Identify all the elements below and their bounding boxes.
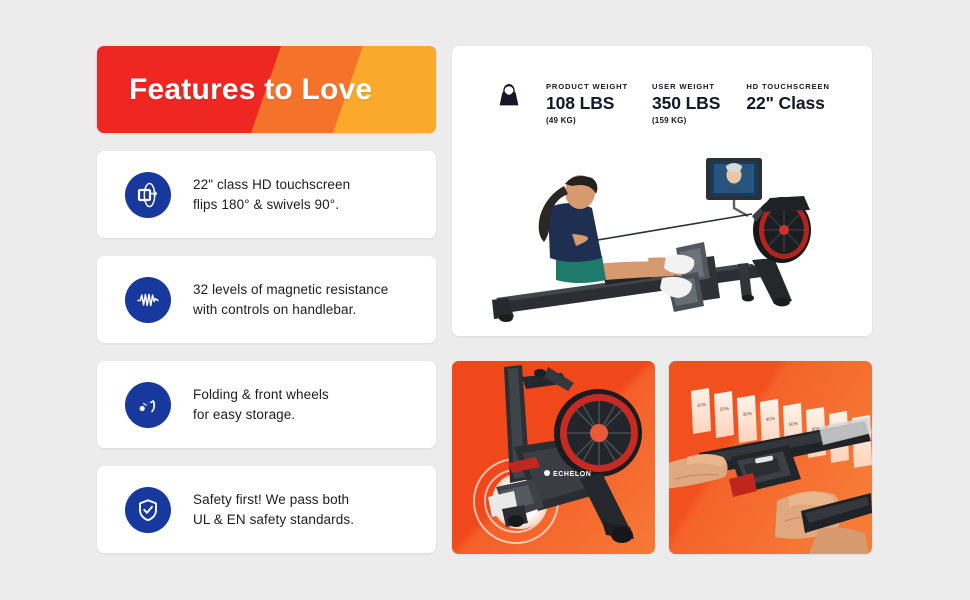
spec-label: HD TOUCHSCREEN <box>746 82 829 91</box>
specs-panel: PRODUCT WEIGHT 108 LBS (49 KG) USER WEIG… <box>452 46 872 336</box>
spec-value: 350 LBS <box>652 93 720 114</box>
feature-line-2: for easy storage. <box>193 405 329 425</box>
page-title: Features to Love <box>129 46 372 133</box>
feature-line-2: UL & EN safety standards. <box>193 510 354 530</box>
spec-hd-touchscreen: HD TOUCHSCREEN 22" Class <box>746 82 829 116</box>
feature-line-2: with controls on handlebar. <box>193 300 388 320</box>
feature-highlights-page: Features to Love 22" class HD touchscree… <box>0 0 970 600</box>
spec-product-weight: PRODUCT WEIGHT 108 LBS (49 KG) <box>546 82 628 125</box>
spec-value: 22" Class <box>746 93 829 114</box>
feature-text-touchscreen: 22" class HD touchscreen flips 180° & sw… <box>193 175 350 215</box>
feature-card-folding[interactable]: Folding & front wheels for easy storage. <box>97 361 436 448</box>
feature-text-folding: Folding & front wheels for easy storage. <box>193 385 329 425</box>
spec-sub-value: (49 KG) <box>546 116 628 125</box>
features-header-banner: Features to Love <box>97 46 436 133</box>
woman-rowing-on-machine-photo <box>452 138 872 336</box>
spec-value: 108 LBS <box>546 93 628 114</box>
weight-kettlebell-icon <box>494 78 524 115</box>
screen-rotate-icon <box>125 172 171 218</box>
folded-rower-photo: ECHELON <box>452 361 655 554</box>
feature-line-2: flips 180° & swivels 90°. <box>193 195 350 215</box>
feature-line-1: Folding & front wheels <box>193 387 329 402</box>
specs-row: PRODUCT WEIGHT 108 LBS (49 KG) USER WEIG… <box>452 68 872 130</box>
folding-wheels-icon <box>125 382 171 428</box>
magnetic-resistance-icon <box>125 277 171 323</box>
features-column: Features to Love 22" class HD touchscree… <box>97 46 436 553</box>
feature-text-safety: Safety first! We pass both UL & EN safet… <box>193 490 354 530</box>
feature-line-1: Safety first! We pass both <box>193 492 349 507</box>
feature-line-1: 22" class HD touchscreen <box>193 177 350 192</box>
feature-card-resistance[interactable]: 32 levels of magnetic resistance with co… <box>97 256 436 343</box>
shield-check-icon <box>125 487 171 533</box>
feature-card-safety[interactable]: Safety first! We pass both UL & EN safet… <box>97 466 436 553</box>
spec-label: PRODUCT WEIGHT <box>546 82 628 91</box>
spec-user-weight: USER WEIGHT 350 LBS (159 KG) <box>652 82 720 125</box>
svg-text:ECHELON: ECHELON <box>553 471 591 478</box>
handlebar-resistance-controls-photo: 10% 20% 30% 40% 50% <box>669 361 872 554</box>
feature-card-touchscreen[interactable]: 22" class HD touchscreen flips 180° & sw… <box>97 151 436 238</box>
feature-line-1: 32 levels of magnetic resistance <box>193 282 388 297</box>
spec-label: USER WEIGHT <box>652 82 720 91</box>
feature-text-resistance: 32 levels of magnetic resistance with co… <box>193 280 388 320</box>
spec-sub-value: (159 KG) <box>652 116 720 125</box>
